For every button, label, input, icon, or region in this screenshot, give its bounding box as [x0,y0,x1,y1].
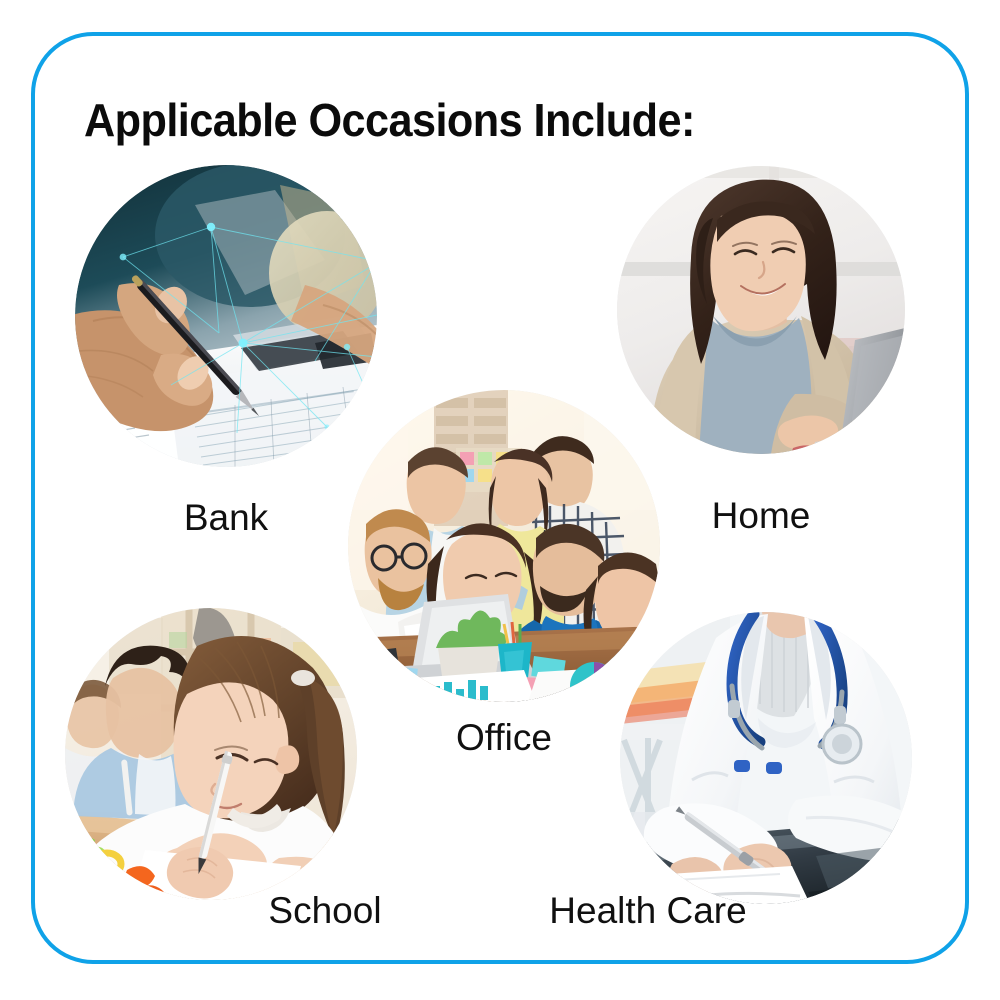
product-infographic-page: Applicable Occasions Include: [0,0,1000,1000]
bank-photo [75,165,377,467]
occasion-bank[interactable] [75,165,377,467]
occasion-school-label: School [205,890,445,932]
page-title: Applicable Occasions Include: [84,93,695,147]
occasion-bank-label: Bank [75,497,377,539]
occasion-home[interactable] [617,166,905,454]
health-photo [620,612,912,904]
occasion-health-label: Health Care [478,890,818,932]
school-photo [65,608,357,900]
home-photo [617,166,905,454]
office-photo [348,390,660,702]
occasion-home-label: Home [617,495,905,537]
occasion-health[interactable] [620,612,912,904]
occasion-office-label: Office [348,717,660,759]
occasion-office[interactable] [348,390,660,702]
occasion-school[interactable] [65,608,357,900]
